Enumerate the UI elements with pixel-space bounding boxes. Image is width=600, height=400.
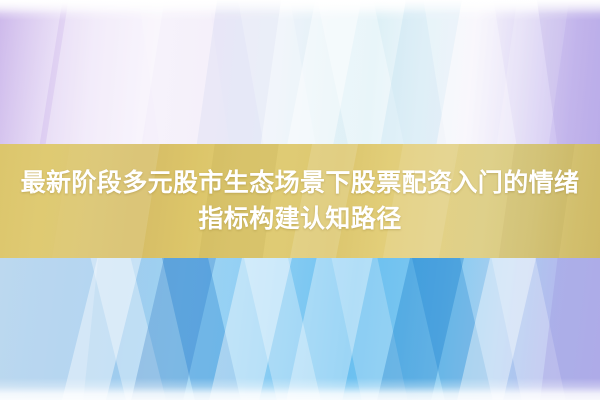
facet-shape [271, 258, 384, 400]
facet-shape [149, 258, 257, 400]
title-line-2: 指标构建认知路径 [198, 202, 401, 236]
facet-shape [76, 258, 183, 400]
top-haze [0, 0, 600, 14]
facet-shape [361, 258, 477, 400]
banner-image: 最新阶段多元股市生态场景下股票配资入门的情绪 指标构建认知路径 [0, 0, 600, 400]
facet-shape [414, 0, 527, 144]
facet-shape [115, 258, 229, 400]
background-band-top [0, 0, 600, 144]
facet-shape [399, 258, 509, 400]
banner-title: 最新阶段多元股市生态场景下股票配资入门的情绪 指标构建认知路径 [0, 144, 600, 258]
facet-shape [319, 258, 422, 400]
facet-shape [529, 0, 600, 144]
title-line-1: 最新阶段多元股市生态场景下股票配资入门的情绪 [21, 166, 580, 200]
facet-shape [228, 0, 328, 144]
facet-shape [231, 258, 337, 400]
facet-shape [441, 258, 549, 400]
background-band-blue [0, 258, 600, 400]
facet-shape [531, 258, 600, 400]
facet-shape [368, 0, 472, 144]
facet-shape [34, 0, 173, 144]
facet-shape [479, 258, 580, 400]
facet-shape [487, 0, 577, 144]
facet-shape [193, 258, 305, 400]
facet-shape [187, 0, 289, 144]
facet-shape [0, 0, 72, 144]
bottom-haze [0, 378, 600, 400]
facet-shape [44, 258, 155, 400]
facet-shape [131, 0, 239, 144]
facet-shape [305, 0, 419, 144]
facet-shape [273, 0, 372, 144]
facet-shape [0, 258, 104, 400]
